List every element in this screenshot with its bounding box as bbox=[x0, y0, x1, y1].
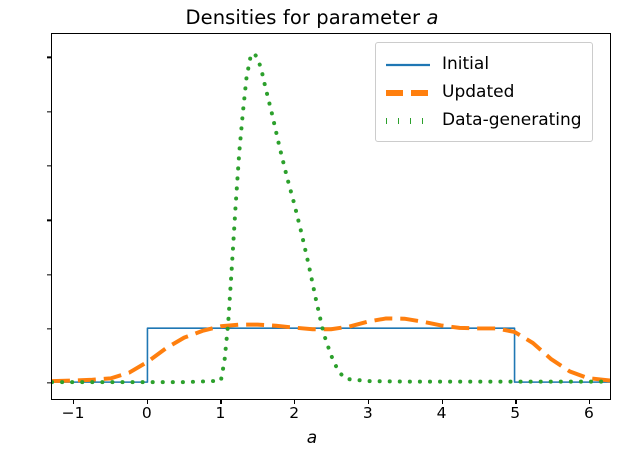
series-line-initial bbox=[52, 328, 610, 382]
chart-title: Densities for parameter a bbox=[0, 6, 624, 29]
x-tick-label: 1 bbox=[200, 404, 240, 422]
legend-label: Initial bbox=[442, 54, 489, 74]
x-tick-label: 4 bbox=[422, 404, 462, 422]
chart-title-param: a bbox=[426, 6, 438, 29]
y-tick-mark bbox=[47, 111, 51, 112]
series-line-updated bbox=[52, 318, 610, 381]
x-tick-label: −1 bbox=[53, 404, 93, 422]
x-tick-label: 2 bbox=[274, 404, 314, 422]
y-tick-mark bbox=[47, 328, 51, 329]
legend-item-initial[interactable]: Initial bbox=[385, 50, 582, 78]
legend-label: Updated bbox=[442, 82, 514, 102]
x-tick-label: 5 bbox=[495, 404, 535, 422]
y-tick-mark bbox=[47, 220, 51, 221]
x-tick-label: 6 bbox=[569, 404, 609, 422]
legend-swatch-icon bbox=[385, 85, 431, 99]
y-axis-ticks: 0.00.20.40.60.81.01.2 bbox=[0, 0, 47, 464]
legend-item-updated[interactable]: Updated bbox=[385, 78, 582, 106]
legend-swatch-icon bbox=[385, 57, 431, 71]
matplotlib-figure: Densities for parameter a 0.00.20.40.60.… bbox=[0, 0, 624, 464]
y-tick-mark bbox=[47, 57, 51, 58]
y-tick-mark bbox=[47, 165, 51, 166]
legend-label: Data-generating bbox=[442, 110, 582, 130]
x-tick-label: 3 bbox=[348, 404, 388, 422]
x-axis-label: a bbox=[0, 428, 624, 448]
y-tick-mark bbox=[47, 274, 51, 275]
chart-title-text: Densities for parameter bbox=[186, 6, 427, 29]
legend: InitialUpdatedData-generating bbox=[375, 42, 593, 142]
legend-swatch-icon bbox=[385, 113, 431, 127]
y-tick-mark bbox=[47, 382, 51, 383]
legend-item-data-generating[interactable]: Data-generating bbox=[385, 106, 582, 134]
x-tick-label: 0 bbox=[127, 404, 167, 422]
